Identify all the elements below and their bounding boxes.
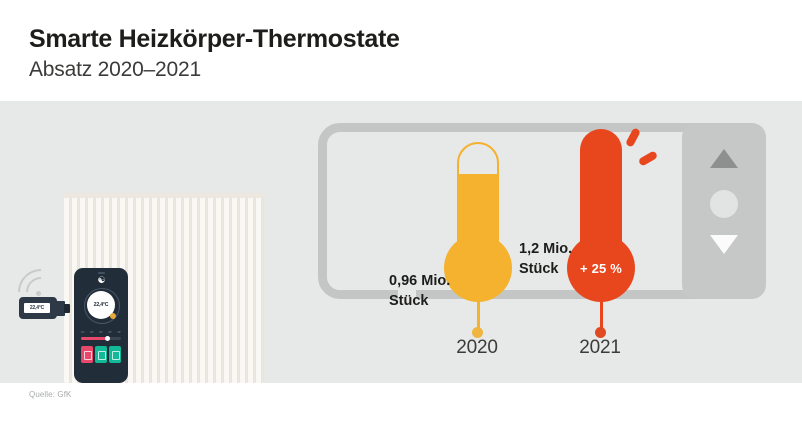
smartphone-illustration: ☯ 22,4°C 16° 18° 20° 22° 24° — [74, 268, 128, 383]
chart-stage: 22,4°C ☯ 22,4°C 16° 18° 20° 22° 24° — [0, 101, 802, 383]
phone-button-timer[interactable] — [109, 346, 121, 363]
triangle-down-icon[interactable] — [710, 235, 738, 254]
clock-icon — [112, 351, 120, 360]
value-label-2020: 0,96 Mio. Stück — [389, 271, 459, 311]
infographic-root: Smarte Heizkörper-Thermostate Absatz 202… — [0, 0, 802, 421]
temperature-dial-knob[interactable] — [110, 313, 116, 319]
source-credit: Quelle: GfK — [29, 390, 71, 399]
axis-label-2020: 2020 — [432, 337, 522, 359]
thermometer-2021-stem — [600, 300, 603, 330]
slider-fill — [81, 337, 107, 340]
thermometer-2020-stem — [477, 300, 480, 330]
page-title: Smarte Heizkörper-Thermostate — [29, 25, 400, 54]
value-label-2020-line2: Stück — [389, 291, 459, 311]
phone-button-row — [81, 346, 121, 363]
wifi-dot-icon — [36, 291, 41, 296]
phone-button-eco[interactable] — [95, 346, 107, 363]
flame-icon — [84, 351, 92, 360]
slider-tick-labels: 16° 18° 20° 22° 24° — [81, 330, 121, 335]
valve-pipe — [64, 304, 70, 313]
control-pad — [682, 123, 766, 299]
slider-handle[interactable] — [105, 336, 110, 341]
radiator-top-bar — [64, 193, 264, 198]
wifi-icon: ☯ — [95, 276, 108, 285]
leaf-icon — [98, 351, 106, 360]
slider-tick: 22° — [108, 331, 112, 334]
temperature-slider[interactable] — [81, 337, 121, 340]
triangle-up-icon[interactable] — [710, 149, 738, 168]
header: Smarte Heizkörper-Thermostate Absatz 202… — [0, 0, 802, 100]
slider-tick: 20° — [99, 331, 103, 334]
slider-tick: 18° — [90, 331, 94, 334]
page-subtitle: Absatz 2020–2021 — [29, 58, 201, 82]
value-label-2021-line2: Stück — [519, 259, 589, 279]
axis-label-2021: 2021 — [555, 337, 645, 359]
slider-tick: 16° — [81, 331, 85, 334]
phone-button-heat[interactable] — [81, 346, 93, 363]
value-label-2021: 1,2 Mio. Stück — [519, 239, 589, 279]
value-label-2021-line1: 1,2 Mio. — [519, 241, 572, 257]
phone-speaker — [98, 272, 105, 274]
valve-display: 22,4°C — [24, 303, 50, 313]
circle-icon[interactable] — [710, 190, 738, 218]
slider-tick: 24° — [117, 331, 121, 334]
value-label-2020-line1: 0,96 Mio. — [389, 273, 450, 289]
